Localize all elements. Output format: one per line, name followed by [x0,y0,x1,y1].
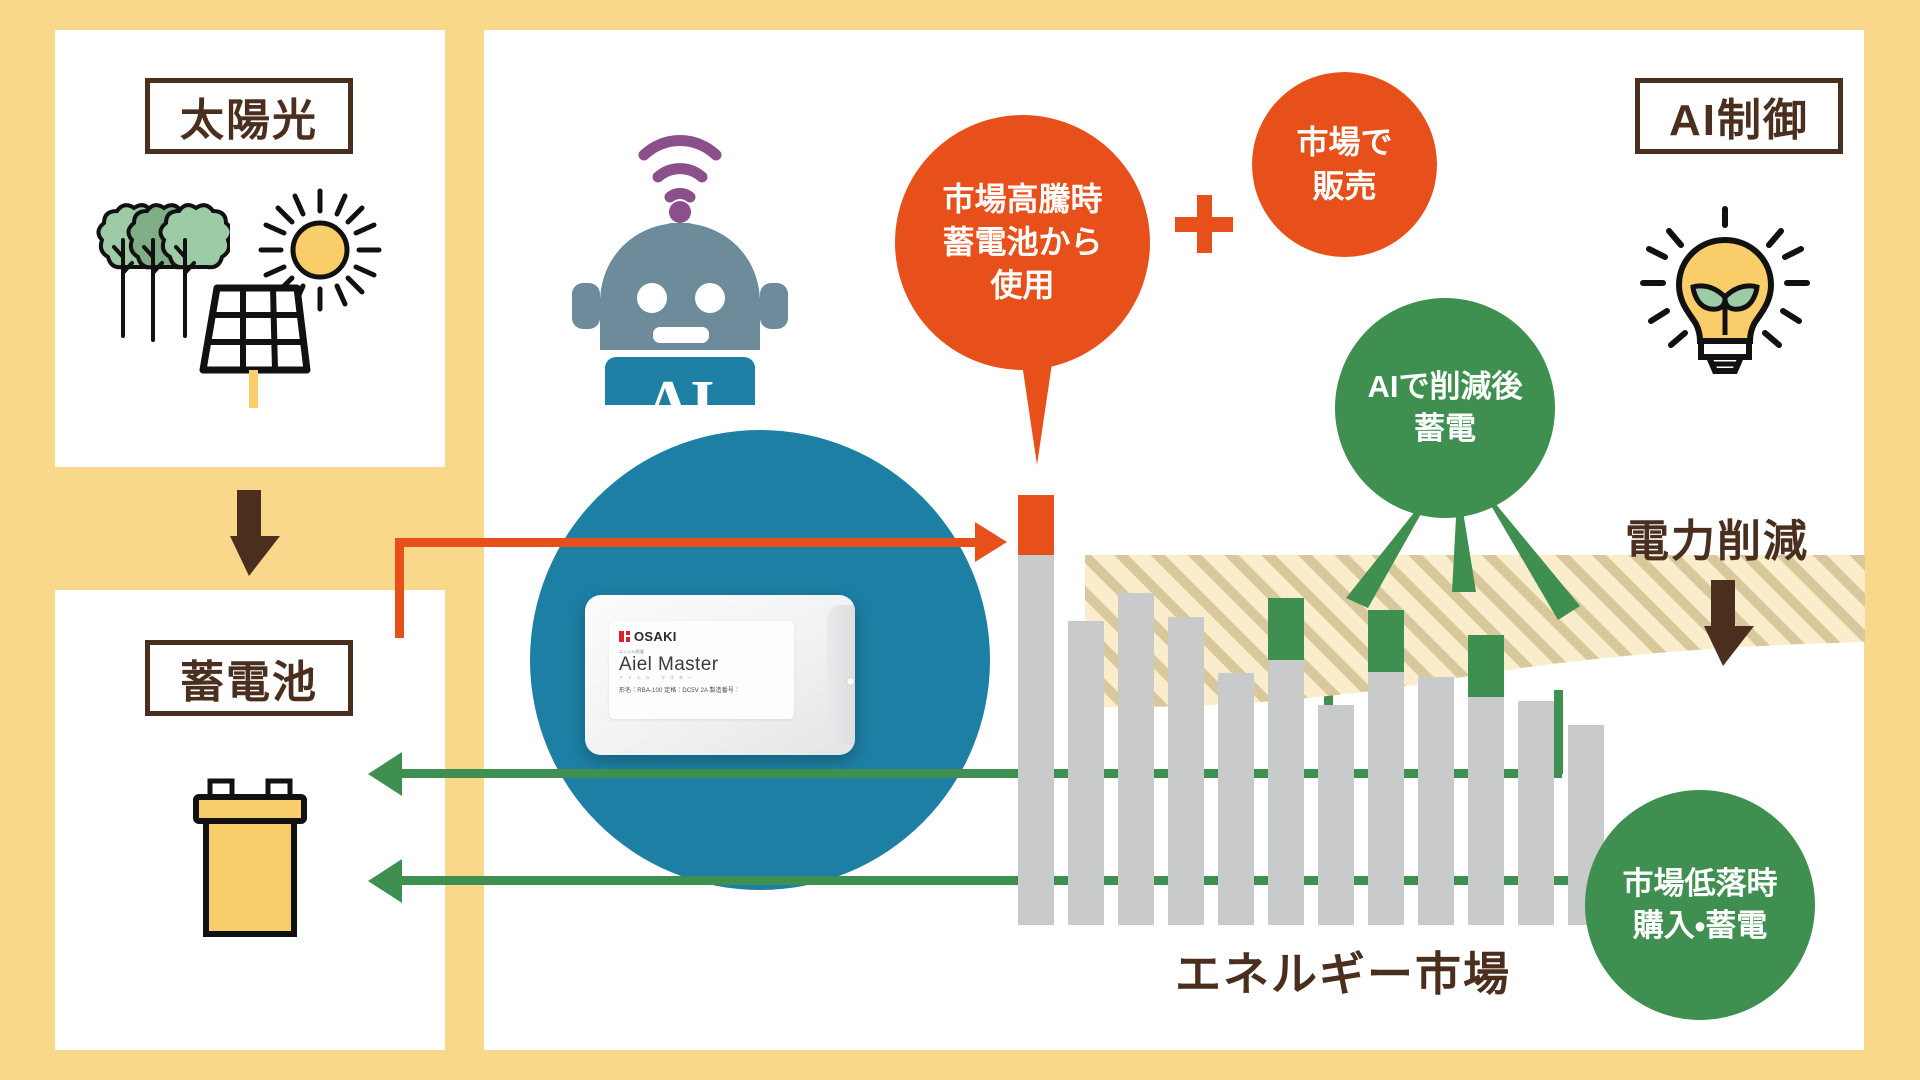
robot-eye-right [695,283,725,313]
bar-9 [1418,677,1454,925]
solar-panel-icon [185,270,315,410]
device-led-icon [846,677,855,686]
device-brand: OSAKI [634,629,677,644]
arrow-down-reduction-icon [1692,580,1754,666]
bubble-buy-at-low: 市場低落時 購入・蓄電 [1585,790,1815,1020]
battery-icon [190,775,310,940]
orange-arrowhead [975,522,1007,562]
osaki-logo-icon [619,631,630,642]
device-model-name: Aiel Master [619,654,784,676]
eco-lightbulb-icon [1635,205,1815,405]
wifi-dot-icon [669,201,691,223]
ai-robot: AI [560,105,800,405]
robot-ai-label: AI [646,369,715,405]
bar-11 [1518,701,1554,925]
device-side-face [827,605,855,745]
label-power-reduction: 電力削減 [1625,505,1809,569]
bar-1 [1018,525,1054,925]
device-brand-row: OSAKI [619,629,784,644]
robot-mouth [653,327,709,343]
label-energy-market: エネルギー市場 [1175,938,1511,1004]
device-photo: OSAKI エッジAI搭載 Aiel Master アイエル マスター 形名：R… [585,595,855,755]
bar-4 [1168,617,1204,925]
bar-2 [1068,621,1104,925]
bar-8 [1368,637,1404,925]
bubble-store-after-reduction: AIで削減後 蓄電 [1335,298,1555,518]
bar-3 [1118,593,1154,925]
bubble-peak-usage: 市場高騰時 蓄電池から 使用 [895,115,1150,370]
bar-7 [1318,705,1354,925]
label-solar: 太陽光 [145,78,353,154]
bubble-sell-to-market: 市場で 販売 [1252,72,1437,257]
orange-line-vertical [395,538,404,638]
wifi-icon [644,141,716,197]
green-arrowhead-upper [368,752,402,796]
bar-5 [1218,673,1254,925]
bar-1-orange-cap [1018,495,1054,555]
orange-line-horizontal [395,538,985,547]
device-spec: 形名：RBA-100 定格：DC5V 2A 製造番号： [619,685,784,694]
arrow-down-icon [218,490,280,576]
label-ai-control: AI制御 [1635,78,1843,154]
green-arrowhead-lower [368,859,402,903]
diagram-canvas: 太陽光 [0,0,1920,1080]
plus-icon [1175,195,1233,253]
robot-eye-left [637,283,667,313]
device-label: OSAKI エッジAI搭載 Aiel Master アイエル マスター 形名：R… [609,621,794,719]
label-battery: 蓄電池 [145,640,353,716]
